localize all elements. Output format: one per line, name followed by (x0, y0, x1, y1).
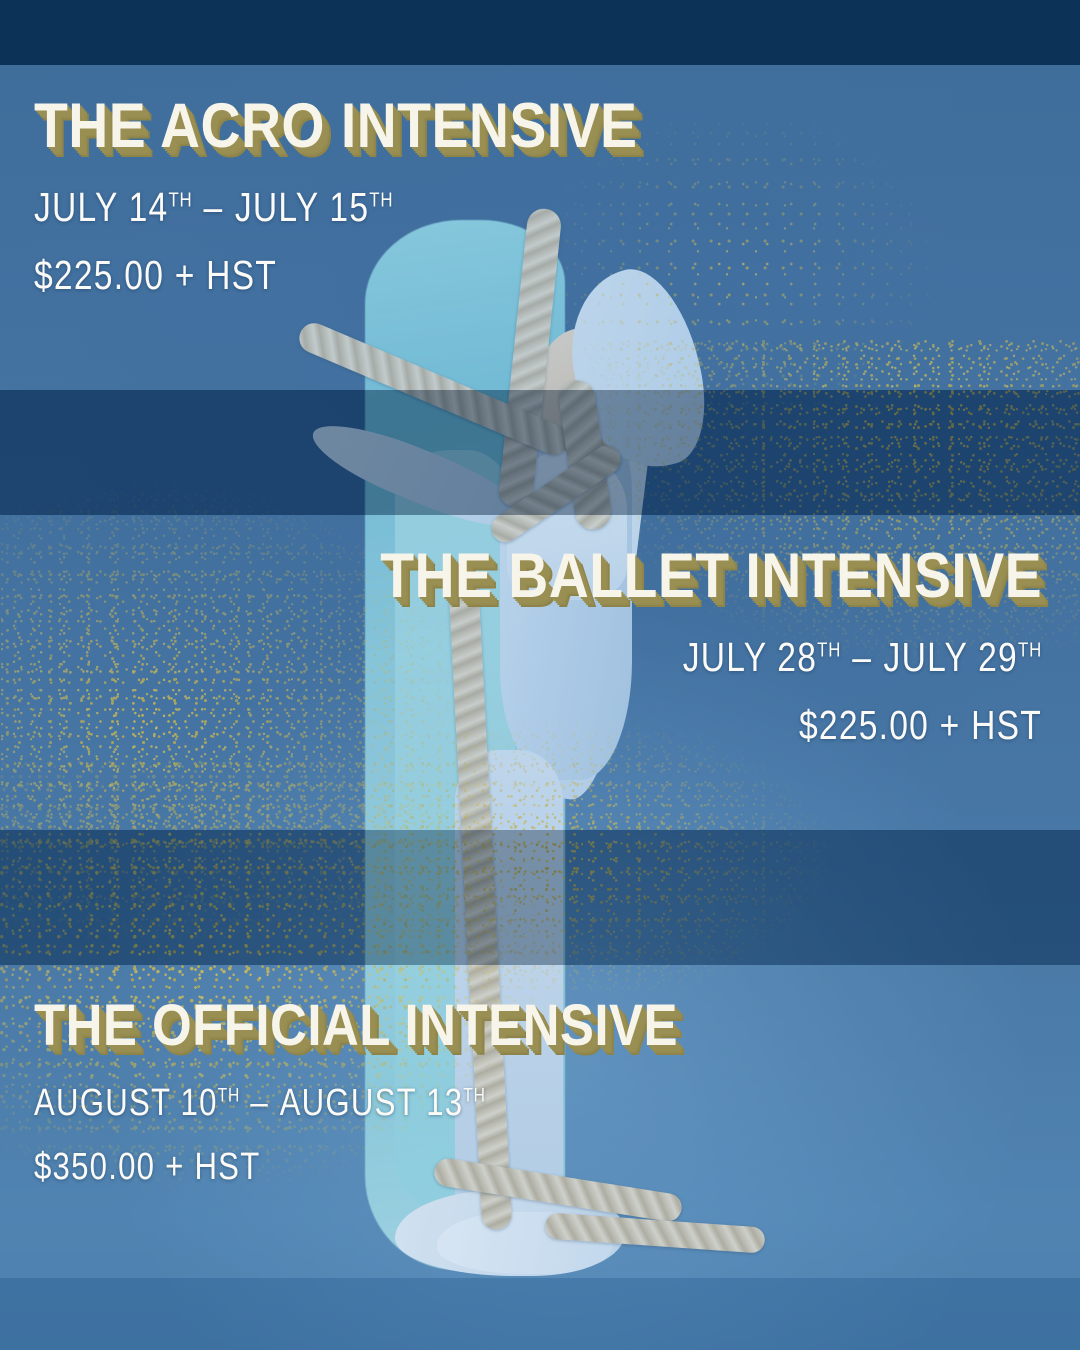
acro-title: THE ACRO INTENSIVE (34, 96, 637, 156)
ballet-date-end: JULY 29 (883, 634, 1017, 680)
acro-date-dash: – (193, 184, 235, 230)
intensive-block-official: THE OFFICIAL INTENSIVE AUGUST 10TH – AUG… (34, 998, 766, 1187)
official-dates: AUGUST 10TH – AUGUST 13TH (34, 1084, 634, 1124)
official-price: $350.00 + HST (34, 1148, 634, 1188)
ballet-date-end-ordinal: TH (1018, 639, 1042, 662)
intensive-promo-poster: THE ACRO INTENSIVE JULY 14TH – JULY 15TH… (0, 0, 1080, 1350)
acro-date-start: JULY 14 (34, 184, 168, 230)
acro-date-start-ordinal: TH (168, 189, 192, 212)
acro-dates: JULY 14TH – JULY 15TH (34, 186, 596, 229)
acro-price: $225.00 + HST (34, 254, 596, 297)
ballet-dates: JULY 28TH – JULY 29TH (425, 636, 1042, 679)
official-date-start: AUGUST 10 (34, 1082, 218, 1124)
official-date-end: AUGUST 13 (280, 1082, 464, 1124)
official-date-start-ordinal: TH (218, 1085, 240, 1106)
acro-date-end: JULY 15 (235, 184, 369, 230)
ballet-price: $225.00 + HST (425, 704, 1042, 747)
official-date-dash: – (240, 1082, 280, 1124)
acro-date-end-ordinal: TH (369, 189, 393, 212)
official-date-end-ordinal: TH (463, 1085, 485, 1106)
intensive-block-ballet: THE BALLET INTENSIVE JULY 28TH – JULY 29… (290, 546, 1042, 747)
official-title: THE OFFICIAL INTENSIVE (34, 998, 678, 1054)
ballet-date-start-ordinal: TH (817, 639, 841, 662)
intensive-block-acro: THE ACRO INTENSIVE JULY 14TH – JULY 15TH… (34, 96, 720, 297)
ballet-date-start: JULY 28 (683, 634, 817, 680)
ballet-title: THE BALLET INTENSIVE (380, 546, 1042, 606)
ballet-date-dash: – (841, 634, 883, 680)
